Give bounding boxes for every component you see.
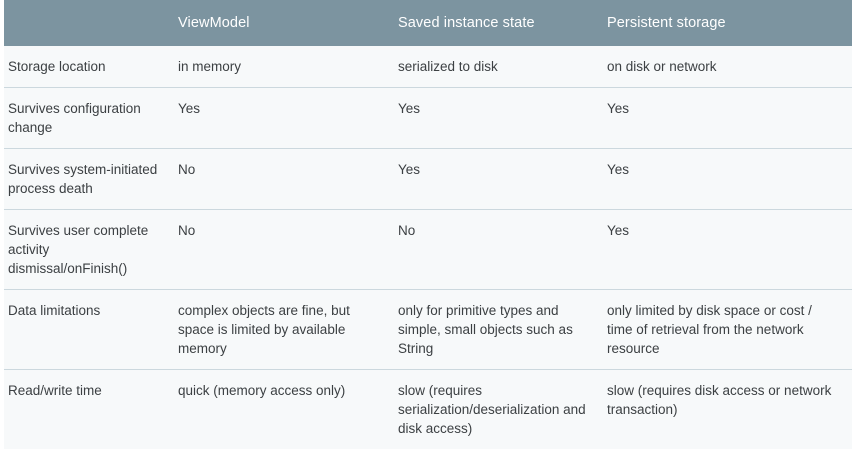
- cell-saved-instance-state: slow (requires serialization/deserializa…: [394, 370, 603, 449]
- cell-persistent-storage: Yes: [603, 210, 852, 290]
- cell-saved-instance-state: No: [394, 210, 603, 290]
- cell-viewmodel: No: [174, 210, 394, 290]
- table-row: Read/write time quick (memory access onl…: [4, 370, 852, 449]
- row-label: Read/write time: [4, 370, 174, 449]
- column-header-viewmodel: ViewModel: [174, 0, 394, 46]
- row-label: Data limitations: [4, 290, 174, 370]
- cell-viewmodel: in memory: [174, 46, 394, 88]
- cell-viewmodel: Yes: [174, 88, 394, 149]
- cell-persistent-storage: only limited by disk space or cost / tim…: [603, 290, 852, 370]
- row-label: Survives system-initiated process death: [4, 149, 174, 210]
- row-label: Survives user complete activity dismissa…: [4, 210, 174, 290]
- table-row: Survives system-initiated process death …: [4, 149, 852, 210]
- table-row: Survives user complete activity dismissa…: [4, 210, 852, 290]
- row-label: Survives configuration change: [4, 88, 174, 149]
- table-row: Data limitations complex objects are fin…: [4, 290, 852, 370]
- column-header-persistent-storage: Persistent storage: [603, 0, 852, 46]
- row-label: Storage location: [4, 46, 174, 88]
- table-body: Storage location in memory serialized to…: [4, 46, 852, 449]
- cell-persistent-storage: Yes: [603, 88, 852, 149]
- column-header-saved-instance-state: Saved instance state: [394, 0, 603, 46]
- table-header: ViewModel Saved instance state Persisten…: [4, 0, 852, 46]
- cell-viewmodel: quick (memory access only): [174, 370, 394, 449]
- table-row: Storage location in memory serialized to…: [4, 46, 852, 88]
- cell-persistent-storage: on disk or network: [603, 46, 852, 88]
- cell-persistent-storage: slow (requires disk access or network tr…: [603, 370, 852, 449]
- storage-comparison-table: ViewModel Saved instance state Persisten…: [4, 0, 852, 449]
- table-row: Survives configuration change Yes Yes Ye…: [4, 88, 852, 149]
- cell-saved-instance-state: Yes: [394, 149, 603, 210]
- cell-viewmodel: No: [174, 149, 394, 210]
- cell-saved-instance-state: serialized to disk: [394, 46, 603, 88]
- cell-viewmodel: complex objects are fine, but space is l…: [174, 290, 394, 370]
- table-header-row: ViewModel Saved instance state Persisten…: [4, 0, 852, 46]
- column-header-blank: [4, 0, 174, 46]
- cell-saved-instance-state: Yes: [394, 88, 603, 149]
- cell-saved-instance-state: only for primitive types and simple, sma…: [394, 290, 603, 370]
- cell-persistent-storage: Yes: [603, 149, 852, 210]
